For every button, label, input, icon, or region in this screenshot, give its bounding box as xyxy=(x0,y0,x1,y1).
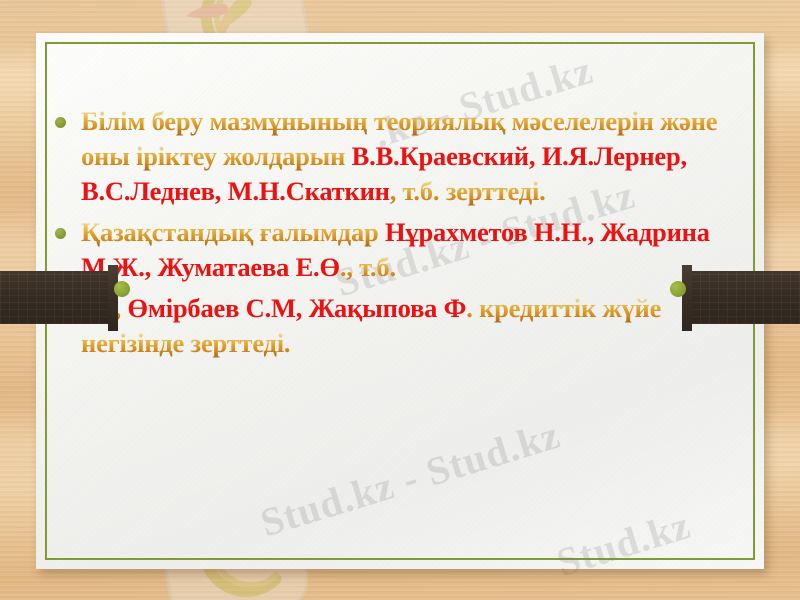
ribbon-dot-right xyxy=(670,281,686,297)
text-run-gold: , т.б. зерттеді. xyxy=(390,176,546,206)
bullet-point-icon xyxy=(55,228,66,239)
ribbon-decoration-left xyxy=(0,271,118,324)
bullet-list: Білім беру мазмұнының теориялық мәселеле… xyxy=(55,104,755,367)
bullet-text: Ал, Өмірбаев С.М, Жақыпова Ф. кредиттік … xyxy=(81,291,755,361)
bullet-text: Қазақстандық ғалымдар Нұрахметов Н.Н., Ж… xyxy=(81,215,755,285)
text-run-gold: ., т.б. xyxy=(340,252,396,282)
text-run-red: Өмірбаев С.М, Жақыпова Ф xyxy=(127,293,466,323)
ribbon-cap-left xyxy=(108,265,118,331)
slide-root: .kz - Stud.kz Stud.kz - Stud.kz Stud.kz … xyxy=(0,0,800,600)
bullet-text: Білім беру мазмұнының теориялық мәселеле… xyxy=(81,104,755,209)
bullet-point-icon xyxy=(55,117,66,128)
ribbon-decoration-right xyxy=(682,271,800,324)
text-run-gold: Қазақстандық ғалымдар xyxy=(81,217,385,247)
ribbon-cap-right xyxy=(682,265,692,331)
bullet-item: Ал, Өмірбаев С.М, Жақыпова Ф. кредиттік … xyxy=(55,291,755,361)
bullet-item: Қазақстандық ғалымдар Нұрахметов Н.Н., Ж… xyxy=(55,215,755,285)
ribbon-dot-left xyxy=(114,281,130,297)
bullet-item: Білім беру мазмұнының теориялық мәселеле… xyxy=(55,104,755,209)
